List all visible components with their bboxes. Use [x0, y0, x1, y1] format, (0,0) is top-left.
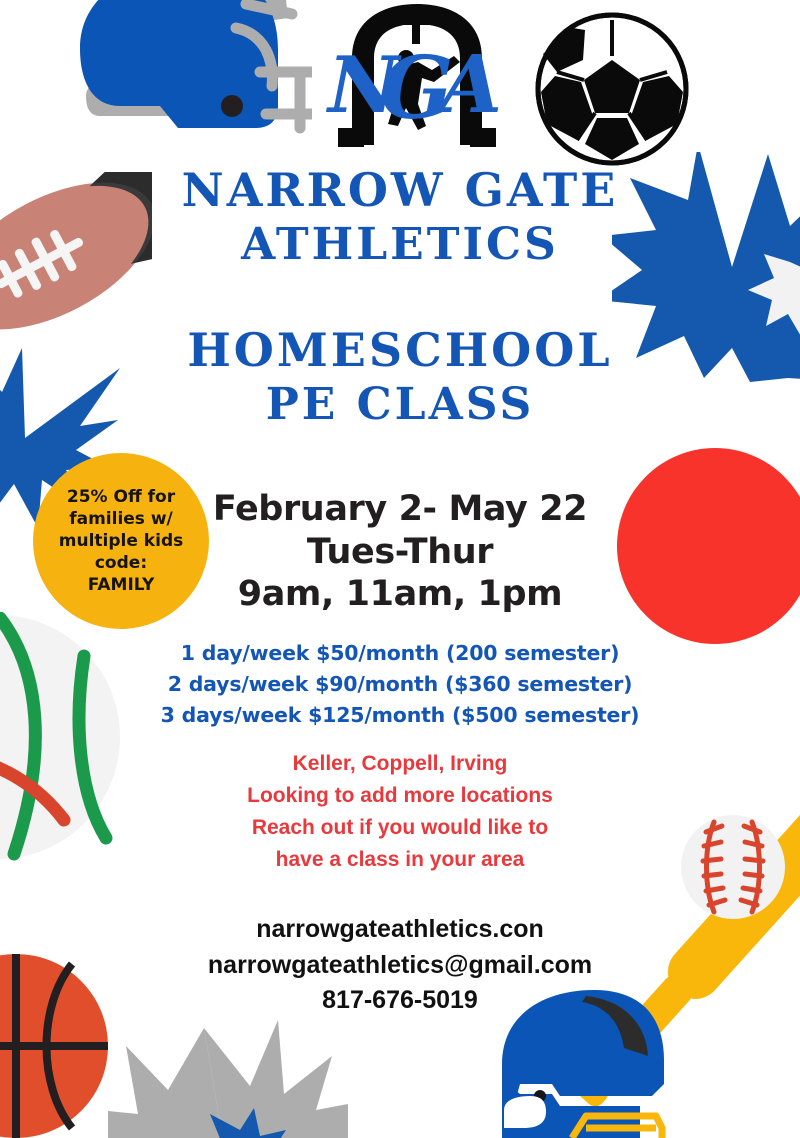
locations-line: Keller, Coppell, Irving	[0, 748, 800, 780]
gray-starburst-icon	[108, 1018, 348, 1138]
page-title: NARROW GATE ATHLETICS	[0, 162, 800, 272]
class-title: HOMESCHOOL PE CLASS	[0, 322, 800, 432]
svg-text:N: N	[325, 40, 402, 131]
title-line-pe-class: PE CLASS	[0, 378, 800, 432]
title-line-narrow-gate: NARROW GATE	[0, 162, 800, 218]
pricing-row: 1 day/week $50/month (200 semester)	[0, 638, 800, 669]
contact-block: narrowgateathletics.con narrowgateathlet…	[0, 912, 800, 1019]
locations-line: Reach out if you would like to	[0, 812, 800, 844]
title-line-athletics: ATHLETICS	[0, 218, 800, 272]
soccer-ball-icon	[533, 12, 691, 167]
nga-logo-icon: N G A	[322, 0, 512, 158]
flyer-canvas: N G A	[0, 0, 800, 1138]
schedule-dates: February 2- May 22	[0, 488, 800, 531]
schedule-times: 9am, 11am, 1pm	[0, 573, 800, 616]
svg-text:G: G	[380, 38, 453, 139]
svg-text:A: A	[433, 37, 502, 131]
schedule-days: Tues-Thur	[0, 531, 800, 574]
contact-email[interactable]: narrowgateathletics@gmail.com	[0, 948, 800, 984]
contact-phone[interactable]: 817-676-5019	[0, 983, 800, 1019]
pricing-row: 3 days/week $125/month ($500 semester)	[0, 700, 800, 731]
locations-line: Looking to add more locations	[0, 780, 800, 812]
title-line-homeschool: HOMESCHOOL	[0, 322, 800, 378]
pricing-block: 1 day/week $50/month (200 semester) 2 da…	[0, 638, 800, 731]
locations-line: have a class in your area	[0, 844, 800, 876]
contact-website[interactable]: narrowgateathletics.con	[0, 912, 800, 948]
locations-block: Keller, Coppell, Irving Looking to add m…	[0, 748, 800, 876]
football-helmet-icon	[60, 0, 312, 153]
schedule-block: February 2- May 22 Tues-Thur 9am, 11am, …	[0, 488, 800, 616]
pricing-row: 2 days/week $90/month ($360 semester)	[0, 669, 800, 700]
